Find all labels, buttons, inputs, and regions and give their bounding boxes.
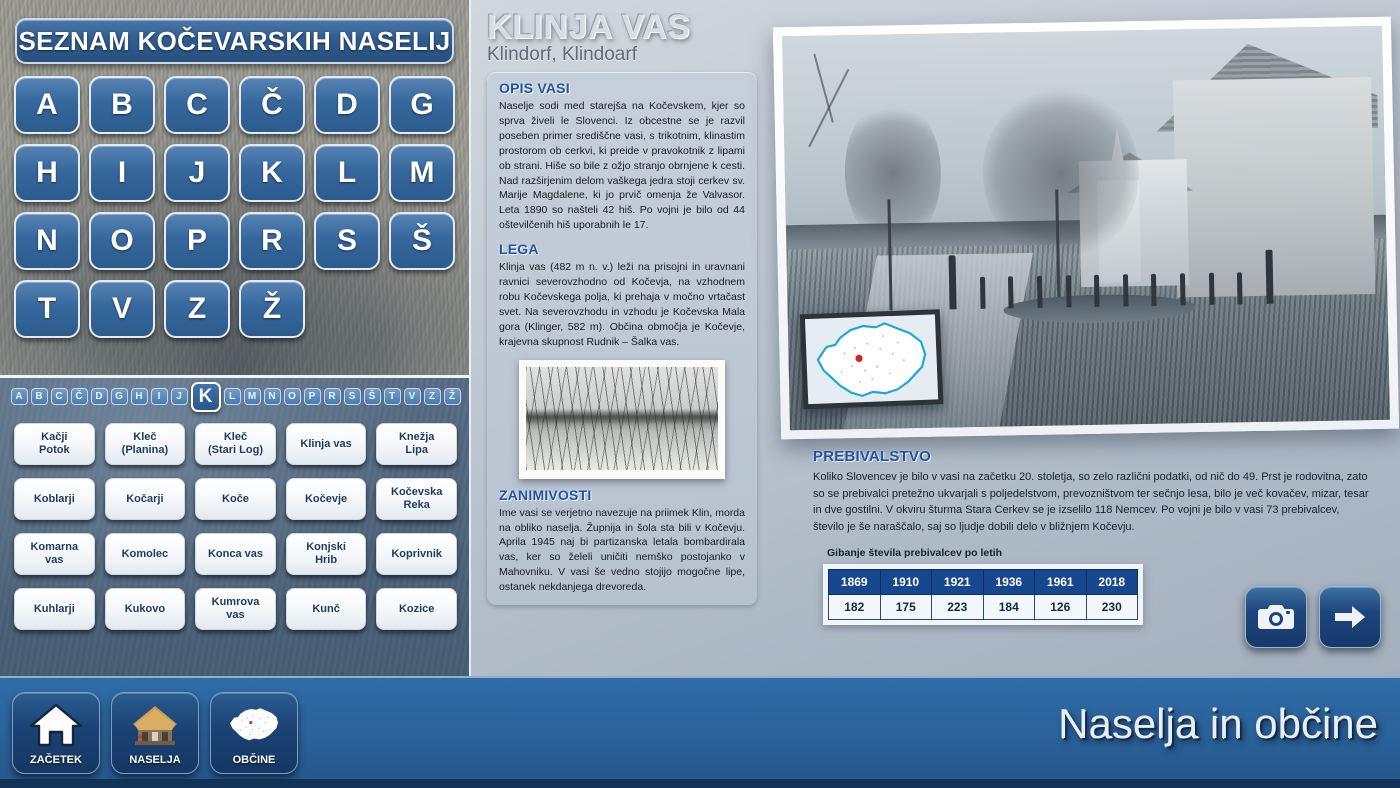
population-count-cell: 223 [932, 595, 984, 620]
photo-figures [949, 272, 1274, 309]
panel-header: SEZNAM KOČEVARSKIH NASELIJ [15, 18, 454, 64]
arrow-right-icon [1333, 602, 1367, 632]
letter-key-L[interactable]: L [314, 144, 380, 202]
population-year-header: 1936 [983, 570, 1035, 595]
letter-key-S[interactable]: S [314, 212, 380, 270]
settlement-button[interactable]: Komarnavas [14, 533, 95, 575]
settlement-button[interactable]: Kočevje [286, 478, 367, 520]
population-year-header: 1910 [880, 570, 932, 595]
letter-key-I[interactable]: I [89, 144, 155, 202]
population-count-cell: 126 [1035, 595, 1087, 620]
alpha-strip-item-Š[interactable]: Š [364, 388, 381, 405]
settlement-list-panel: SEZNAM KOČEVARSKIH NASELIJ ABCČDGHIJKLMN… [0, 0, 471, 676]
section-heading-lega: LEGA [499, 241, 745, 257]
section-heading-prebivalstvo: PREBIVALSTVO [813, 448, 1373, 465]
title-block: KLINJA VAS Klindorf, Klindoarf [471, 0, 771, 66]
alpha-strip-item-T[interactable]: T [384, 388, 401, 405]
population-count-cell: 175 [880, 595, 932, 620]
letter-key-G[interactable]: G [389, 76, 455, 134]
alphabet-strip: ABCČDGHIJKLMNOPRSŠTVZŽ [0, 378, 471, 411]
alpha-strip-item-C[interactable]: C [51, 388, 68, 405]
settlement-list-area: ABCČDGHIJKLMNOPRSŠTVZŽ KačjiPotokKleč(Pl… [0, 375, 471, 676]
population-count-cell: 230 [1086, 595, 1138, 620]
village-info-column: KLINJA VAS Klindorf, Klindoarf OPIS VASI… [471, 0, 771, 676]
letter-key-V[interactable]: V [89, 280, 155, 338]
next-button[interactable] [1319, 586, 1381, 648]
settlement-button[interactable]: Kleč(Stari Log) [195, 423, 276, 465]
population-year-header: 1921 [932, 570, 984, 595]
footer-title: Naselja in občine [1058, 700, 1378, 748]
panel-header-title: SEZNAM KOČEVARSKIH NASELIJ [18, 26, 450, 57]
settlement-button[interactable]: Koče [195, 478, 276, 520]
bottom-navigation-bar: ZAČETEK NASELJA [0, 676, 1400, 788]
letter-key-Š[interactable]: Š [389, 212, 455, 270]
nav-label-naselja: NASELJA [129, 754, 180, 766]
locator-map-face [805, 314, 938, 404]
settlement-button[interactable]: KačjiPotok [14, 423, 95, 465]
app-root: SEZNAM KOČEVARSKIH NASELIJ ABCČDGHIJKLMN… [0, 0, 1400, 788]
settlement-button[interactable]: Konca vas [195, 533, 276, 575]
settlement-button[interactable]: Klinja vas [286, 423, 367, 465]
letter-key-N[interactable]: N [14, 212, 80, 270]
region-map-icon [226, 702, 282, 746]
settlement-button[interactable]: Kunč [286, 588, 367, 630]
camera-icon [1258, 603, 1294, 631]
alpha-strip-item-N[interactable]: N [264, 388, 281, 405]
letter-key-B[interactable]: B [89, 76, 155, 134]
alpha-strip-item-O[interactable]: O [284, 388, 301, 405]
nav-label-obcine: OBČINE [233, 754, 276, 766]
alpha-strip-item-Z[interactable]: Z [424, 388, 441, 405]
section-body-zanimivosti: Ime vasi se verjetno navezuje na priimek… [499, 506, 745, 595]
population-table: 186919101921193619612018 182175223184126… [828, 569, 1138, 620]
letter-key-Z[interactable]: Z [164, 280, 230, 338]
section-body-prebivalstvo: Koliko Slovencev je bilo v vasi na začet… [813, 469, 1373, 535]
population-table-caption: Gibanje števila prebivalcev po letih [827, 547, 1373, 559]
locator-map-inset [800, 309, 944, 409]
letter-key-Č[interactable]: Č [239, 76, 305, 134]
alpha-strip-item-J[interactable]: J [171, 388, 188, 405]
letter-key-J[interactable]: J [164, 144, 230, 202]
page-subtitle: Klindorf, Klindoarf [487, 44, 771, 66]
nav-button-obcine[interactable]: OBČINE [210, 692, 298, 774]
nav-label-zacetek: ZAČETEK [30, 754, 82, 766]
settlement-button[interactable]: Kozice [376, 588, 457, 630]
alpha-strip-item-K[interactable]: K [191, 382, 221, 412]
settlement-grid: KačjiPotokKleč(Planina)Kleč(Stari Log)Kl… [14, 423, 457, 630]
alpha-strip-item-M[interactable]: M [244, 388, 261, 405]
letter-key-P[interactable]: P [164, 212, 230, 270]
alpha-strip-item-S[interactable]: S [344, 388, 361, 405]
alpha-strip-item-H[interactable]: H [131, 388, 148, 405]
nav-button-naselja[interactable]: NASELJA [111, 692, 199, 774]
settlement-button[interactable]: Koprivnik [376, 533, 457, 575]
settlement-button[interactable]: Kuhlarji [14, 588, 95, 630]
section-heading-zanimivosti: ZANIMIVOSTI [499, 487, 745, 503]
alpha-strip-item-G[interactable]: G [111, 388, 128, 405]
settlement-button[interactable]: Kumrovavas [195, 588, 276, 630]
page-title: KLINJA VAS [487, 8, 771, 47]
village-thumbnail-photo[interactable] [519, 360, 725, 479]
region-outline-icon [805, 314, 938, 404]
population-table-header-row: 186919101921193619612018 [829, 570, 1138, 595]
population-year-header: 1961 [1035, 570, 1087, 595]
nav-button-zacetek[interactable]: ZAČETEK [12, 692, 100, 774]
media-and-population-column: PREBIVALSTVO Koliko Slovencev je bilo v … [771, 0, 1400, 676]
settlement-button[interactable]: Komolec [105, 533, 186, 575]
historic-photo-frame[interactable] [773, 17, 1399, 440]
section-body-opis: Naselje sodi med starejša na Kočevskem, … [499, 99, 745, 233]
section-body-lega: Klinja vas (482 m n. v.) leži na prisojn… [499, 260, 745, 349]
letter-key-A[interactable]: A [14, 76, 80, 134]
settlement-button[interactable]: KonjskiHrib [286, 533, 367, 575]
letter-key-H[interactable]: H [14, 144, 80, 202]
alpha-strip-item-I[interactable]: I [151, 388, 168, 405]
home-icon [29, 702, 83, 748]
population-count-cell: 184 [983, 595, 1035, 620]
population-table-data-row: 182175223184126230 [829, 595, 1138, 620]
alpha-strip-item-P[interactable]: P [304, 388, 321, 405]
alpha-strip-item-B[interactable]: B [31, 388, 48, 405]
letter-key-C[interactable]: C [164, 76, 230, 134]
letter-key-T[interactable]: T [14, 280, 80, 338]
settlement-button[interactable]: Kočarji [105, 478, 186, 520]
cottage-icon [129, 702, 181, 748]
alphabet-keypad: ABCČDGHIJKLMNOPRSŠTVZŽ [14, 76, 455, 338]
letter-key-R[interactable]: R [239, 212, 305, 270]
section-heading-opis: OPIS VASI [499, 80, 745, 96]
alpha-strip-item-A[interactable]: A [11, 388, 28, 405]
settlement-button[interactable]: Kukovo [105, 588, 186, 630]
letter-key-Ž[interactable]: Ž [239, 280, 305, 338]
alpha-strip-item-L[interactable]: L [224, 388, 241, 405]
letter-key-M[interactable]: M [389, 144, 455, 202]
alpha-strip-item-Č[interactable]: Č [71, 388, 88, 405]
village-thumbnail-image [526, 367, 718, 470]
population-table-wrapper: 186919101921193619612018 182175223184126… [823, 564, 1143, 625]
settlement-button[interactable]: Kleč(Planina) [105, 423, 186, 465]
letter-key-K[interactable]: K [239, 144, 305, 202]
population-count-cell: 182 [829, 595, 881, 620]
alpha-strip-item-V[interactable]: V [404, 388, 421, 405]
alpha-strip-item-D[interactable]: D [91, 388, 108, 405]
letter-key-D[interactable]: D [314, 76, 380, 134]
alpha-strip-item-R[interactable]: R [324, 388, 341, 405]
village-text-card: OPIS VASI Naselje sodi med starejša na K… [487, 72, 757, 605]
settlement-button[interactable]: KnežjaLipa [376, 423, 457, 465]
alpha-strip-item-Ž[interactable]: Ž [444, 388, 461, 405]
camera-button[interactable] [1245, 586, 1307, 648]
population-year-header: 1869 [829, 570, 881, 595]
settlement-button[interactable]: KočevskaReka [376, 478, 457, 520]
population-year-header: 2018 [1086, 570, 1138, 595]
letter-key-O[interactable]: O [89, 212, 155, 270]
settlement-button[interactable]: Koblarji [14, 478, 95, 520]
